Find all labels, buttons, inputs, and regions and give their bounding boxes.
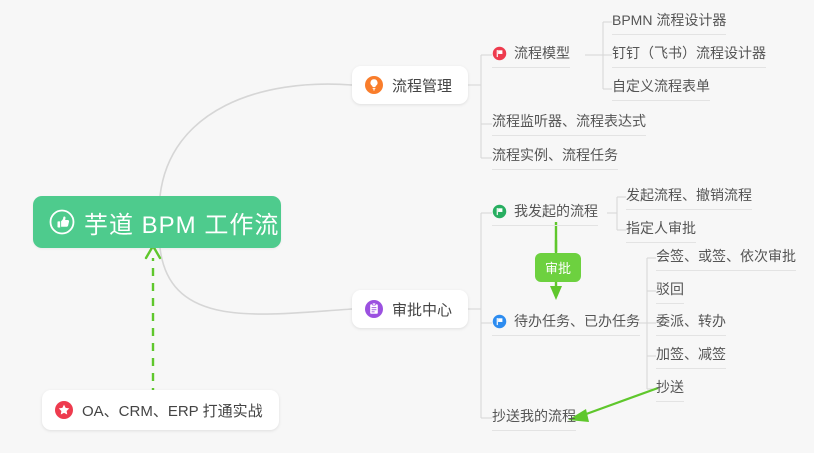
leaf-custom-process-form[interactable]: 自定义流程表单	[612, 76, 710, 101]
approval-badge: 审批	[535, 253, 581, 282]
subnode-todo-done-tasks[interactable]: 待办任务、已办任务	[492, 311, 640, 336]
root-node[interactable]: 芋道 BPM 工作流	[33, 196, 281, 248]
star-icon	[54, 400, 74, 420]
link-root-to-approval-center	[160, 248, 352, 314]
flag-icon	[492, 46, 507, 61]
branch-approval-center-label: 审批中心	[392, 299, 452, 320]
flag-icon	[492, 314, 507, 329]
leaf-delegate-transfer[interactable]: 委派、转办	[656, 311, 726, 336]
integration-card[interactable]: OA、CRM、ERP 打通实战	[42, 390, 279, 430]
branch-process-management[interactable]: 流程管理	[352, 66, 468, 104]
leaf-dingtalk-feishu-designer[interactable]: 钉钉（飞书）流程设计器	[612, 43, 766, 68]
arrow-badge-to-todo-head	[550, 286, 562, 300]
leaf-countersign[interactable]: 会签、或签、依次审批	[656, 246, 796, 271]
leaf-instance-task[interactable]: 流程实例、流程任务	[492, 145, 618, 170]
thumbs-up-icon	[49, 209, 75, 235]
subnode-my-initiated[interactable]: 我发起的流程	[492, 201, 598, 226]
arrow-cc-to-cc-mine	[578, 388, 658, 417]
leaf-carbon-copy[interactable]: 抄送	[656, 377, 684, 402]
mindmap-canvas: 芋道 BPM 工作流 流程管理 流程模型 BPMN 流程设计器 钉钉（飞书）流程…	[0, 0, 814, 453]
flag-icon	[492, 204, 507, 219]
clipboard-icon	[364, 299, 384, 319]
integration-card-label: OA、CRM、ERP 打通实战	[82, 400, 263, 421]
leaf-add-remove-sign[interactable]: 加签、减签	[656, 344, 726, 369]
leaf-start-cancel-process[interactable]: 发起流程、撤销流程	[626, 185, 752, 210]
root-label: 芋道 BPM 工作流	[84, 205, 279, 240]
subnode-process-model-label: 流程模型	[514, 43, 570, 63]
branch-approval-center[interactable]: 审批中心	[352, 290, 468, 328]
leaf-listener-expression[interactable]: 流程监听器、流程表达式	[492, 111, 646, 136]
leaf-reject[interactable]: 驳回	[656, 279, 684, 304]
link-root-to-process-management	[160, 84, 352, 196]
subnode-my-initiated-label: 我发起的流程	[514, 201, 598, 221]
lightbulb-icon	[364, 75, 384, 95]
subnode-todo-done-tasks-label: 待办任务、已办任务	[514, 311, 640, 331]
leaf-cc-my-process[interactable]: 抄送我的流程	[492, 406, 576, 431]
subnode-process-model[interactable]: 流程模型	[492, 43, 570, 68]
leaf-bpmn-designer[interactable]: BPMN 流程设计器	[612, 10, 726, 35]
branch-process-management-label: 流程管理	[392, 75, 452, 96]
leaf-assignee-approval[interactable]: 指定人审批	[626, 218, 696, 243]
